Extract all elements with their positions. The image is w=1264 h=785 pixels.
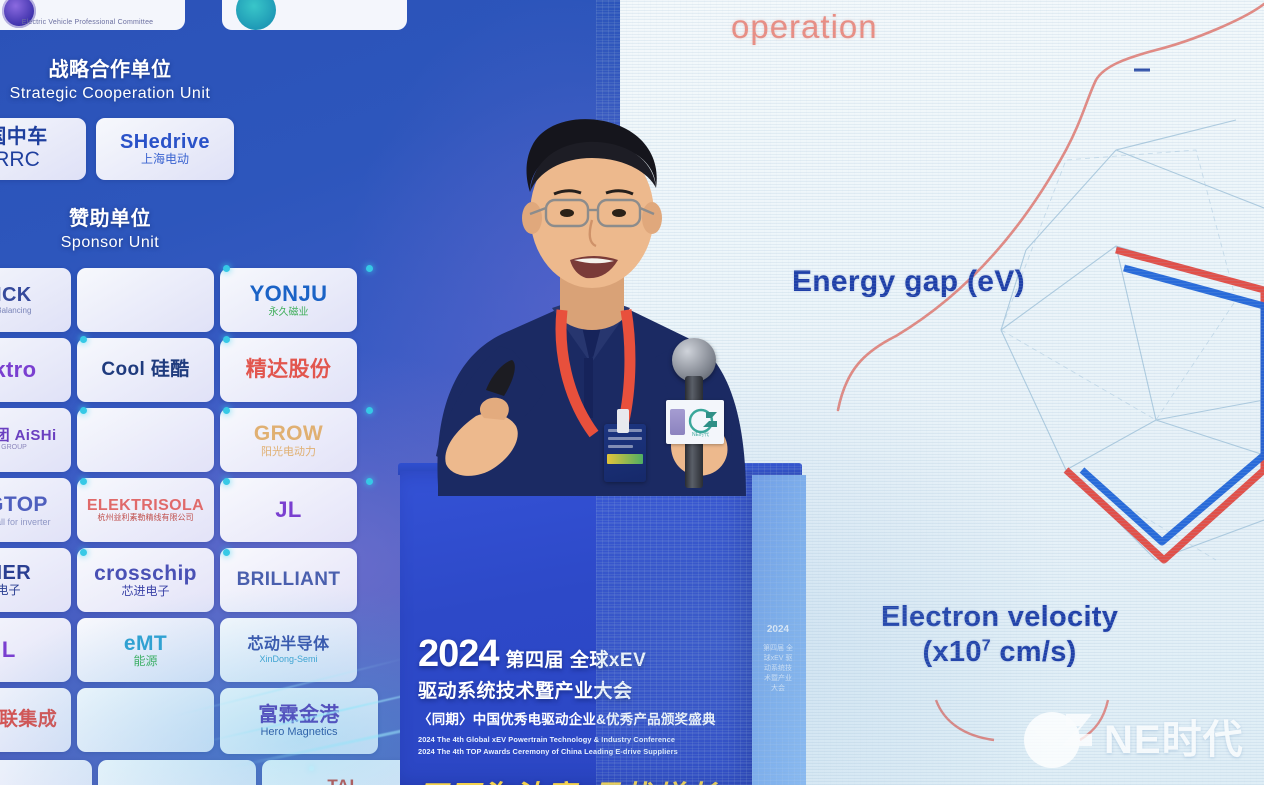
label-strategic-cooperation-unit: 战略合作单位 Strategic Cooperation Unit — [0, 58, 350, 105]
sponsor-logo-12: ENER微电子 — [0, 548, 71, 612]
sponsor-logo-13: crosschip芯进电子 — [77, 548, 214, 612]
partner-card-evpc: Electric Vehicle Professional Committee — [0, 0, 185, 30]
strategic-logo-grid: 国中车RRCSHedrive上海电动 — [0, 118, 268, 180]
grid-node — [366, 407, 373, 414]
sponsor-logo-7 — [77, 408, 214, 472]
flag-ne-times-logo-icon: NE时代 — [688, 407, 720, 437]
grid-node — [223, 407, 230, 414]
label-sponsor-unit: 赞助单位 Sponsor Unit — [0, 207, 350, 254]
sponsor-en: Sponsor Unit — [0, 233, 350, 254]
sponsor-logo-5: 精达股份 — [220, 338, 357, 402]
ne-times-watermark: NE时代 — [1022, 700, 1244, 772]
electron-velocity-line1: Electron velocity — [881, 601, 1118, 633]
slide-label-operation: operation — [731, 8, 878, 46]
sponsor-logo-11: JL — [220, 478, 357, 542]
sponsor-logo-19 — [77, 688, 214, 752]
conference-stage-photo: operation Energy gap (eV) Electron veloc… — [0, 0, 1264, 785]
microphone-flag: NE时代 — [666, 400, 724, 444]
badge-color-band — [607, 454, 643, 464]
microphone: NE时代 — [672, 338, 716, 382]
slide-label-electron-velocity: Electron velocity (x107 cm/s) — [881, 600, 1118, 671]
sponsor-logo-21: Celanese — [0, 760, 92, 785]
badge-line — [608, 445, 633, 448]
speaker-person — [380, 96, 800, 496]
ne-times-logo-icon — [1022, 700, 1098, 772]
sponsor-logo-4: Cool 硅酷 — [77, 338, 214, 402]
sponsor-logo-0: ENCKon for Balancing — [0, 268, 71, 332]
sponsor-logo-1 — [77, 268, 214, 332]
sponsor-logo-15: JL — [0, 618, 71, 682]
sae-seal-icon — [236, 0, 276, 30]
sponsor-logo-2: YONJU永久磁业 — [220, 268, 357, 332]
strategic-cn: 战略合作单位 — [0, 58, 350, 83]
sponsor-logo-14: BRILLIANT — [220, 548, 357, 612]
sponsor-logo-22: BORGWARNER — [98, 760, 256, 785]
grid-node — [80, 336, 87, 343]
slide-label-energy-gap: Energy gap (eV) — [792, 265, 1025, 299]
sponsor-logo-6: 艾华集团 AiSHiAIHUA GROUP — [0, 408, 71, 472]
grid-node — [366, 265, 373, 272]
sponsor-logo-18: NT 芯联集成 — [0, 688, 71, 752]
decor-dot — [309, 766, 314, 771]
badge-line — [608, 437, 642, 440]
grid-node — [223, 478, 230, 485]
strategic-logo-1: SHedrive上海电动 — [96, 118, 234, 180]
watermark-text: NE时代 — [1104, 707, 1244, 765]
strategic-en: Strategic Cooperation Unit — [0, 84, 350, 105]
flag-left-mark — [670, 409, 685, 435]
partner-card-evpc-label: Electric Vehicle Professional Committee — [22, 19, 154, 26]
sponsor-logo-16: eMT能源 — [77, 618, 214, 682]
svg-text:NE时代: NE时代 — [692, 431, 709, 437]
grid-node — [223, 336, 230, 343]
partner-card-sae — [222, 0, 407, 30]
exponent-7: 7 — [982, 638, 991, 655]
sponsor-logo-17: 芯动半导体XinDong-Semi — [220, 618, 357, 682]
grid-node — [80, 478, 87, 485]
strategic-logo-0: 国中车RRC — [0, 118, 86, 180]
sponsor-logo-9: EAGTOPall for you,all for inverter — [0, 478, 71, 542]
grid-node — [366, 478, 373, 485]
grid-node — [223, 549, 230, 556]
grid-node — [80, 407, 87, 414]
badge-clip — [617, 409, 629, 433]
electron-velocity-line2: (x107 cm/s) — [881, 635, 1118, 670]
sponsor-logo-10: ELEKTRISOLA杭州益利素勒精线有限公司 — [77, 478, 214, 542]
sponsor-logo-grid: ENCKon for Balancing YONJU永久磁业TektroCool… — [0, 268, 434, 785]
sponsor-logo-8: GROW阳光电动力 — [220, 408, 357, 472]
grid-node — [80, 549, 87, 556]
grid-node — [223, 265, 230, 272]
podium-year: 2024 — [418, 635, 499, 673]
sponsor-logo-3: Tektro — [0, 338, 71, 402]
sponsor-cn: 赞助单位 — [0, 207, 350, 232]
